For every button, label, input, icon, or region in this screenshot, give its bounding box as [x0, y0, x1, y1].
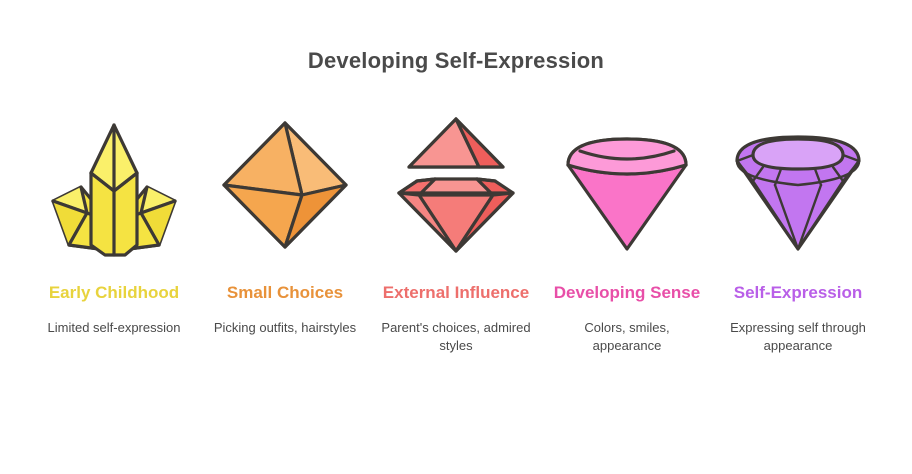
stage-description: Parent's choices, admired styles: [371, 319, 542, 356]
stage-column-developing-sense: Developing Sense Colors, smiles, appeara…: [542, 104, 713, 355]
yellow-crystal-cluster-icon: [29, 104, 200, 264]
stage-description: Expressing self through appearance: [713, 319, 884, 356]
stage-heading: Self-Expression: [730, 282, 867, 304]
orange-octahedron-gem-icon: [200, 104, 371, 264]
pink-round-cut-gem-icon: [542, 104, 713, 264]
stage-heading: External Influence: [379, 282, 533, 304]
stage-column-early-childhood: Early Childhood Limited self-expression: [29, 104, 200, 337]
infographic-page: Developing Self-Expression: [0, 0, 912, 474]
red-split-gem-icon: [371, 104, 542, 264]
stage-description: Colors, smiles, appearance: [542, 319, 713, 356]
stage-columns: Early Childhood Limited self-expression …: [0, 104, 912, 355]
purple-brilliant-gem-icon: [713, 104, 884, 264]
stage-heading: Developing Sense: [550, 282, 704, 304]
stage-heading: Small Choices: [223, 282, 347, 304]
page-title: Developing Self-Expression: [0, 0, 912, 74]
stage-heading: Early Childhood: [45, 282, 183, 304]
stage-column-small-choices: Small Choices Picking outfits, hairstyle…: [200, 104, 371, 337]
stage-column-external-influence: External Influence Parent's choices, adm…: [371, 104, 542, 355]
stage-description: Limited self-expression: [40, 319, 189, 337]
stage-column-self-expression: Self-Expression Expressing self through …: [713, 104, 884, 355]
stage-description: Picking outfits, hairstyles: [206, 319, 364, 337]
